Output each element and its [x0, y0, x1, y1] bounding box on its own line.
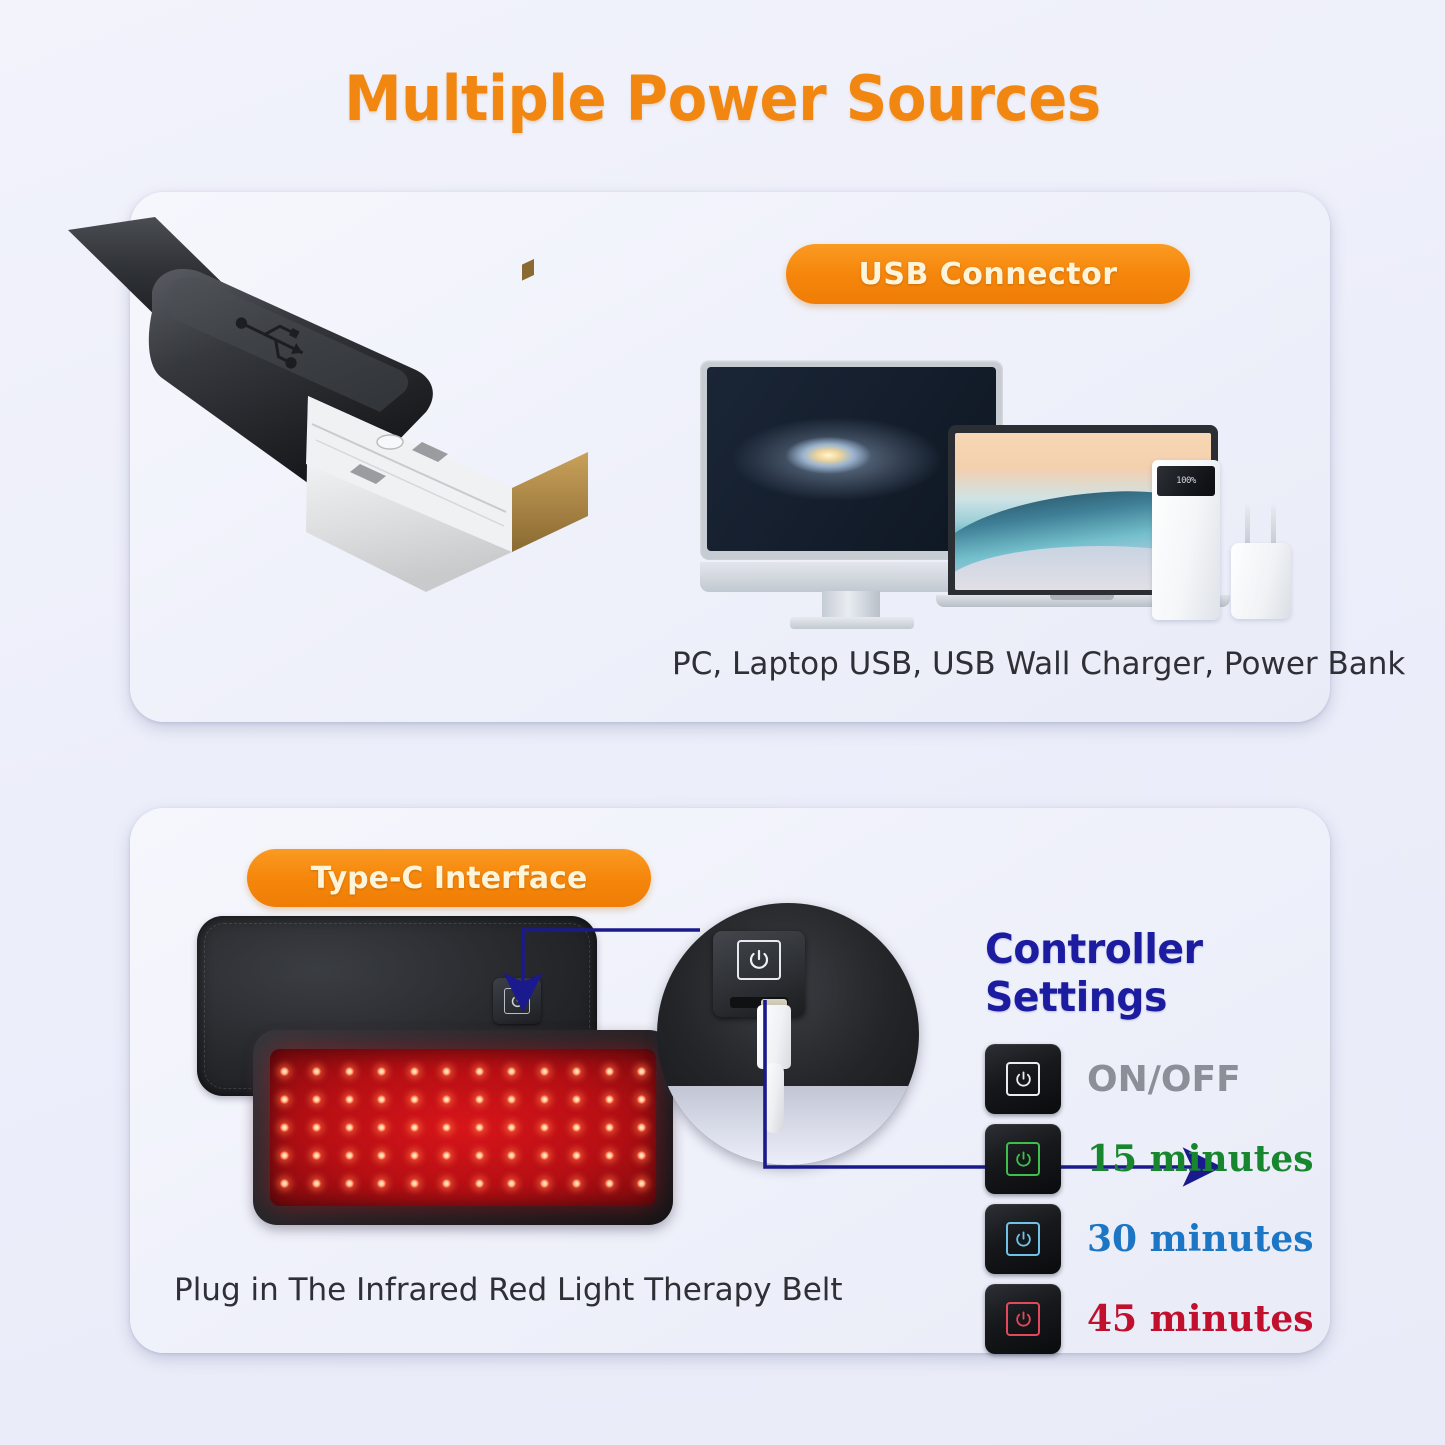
led-dot	[475, 1179, 484, 1188]
led-dot	[280, 1151, 289, 1160]
led-dot	[442, 1179, 451, 1188]
led-dot	[312, 1067, 321, 1076]
led-dot	[507, 1095, 516, 1104]
page-title: Multiple Power Sources	[51, 62, 1395, 135]
type-c-port-closeup	[657, 903, 919, 1165]
type-c-caption: Plug in The Infrared Red Light Therapy B…	[174, 1272, 843, 1308]
led-dot	[507, 1179, 516, 1188]
led-dot	[312, 1151, 321, 1160]
device-cluster: 100%	[690, 355, 1290, 630]
controller-setting-label: ON/OFF	[1087, 1059, 1241, 1100]
led-dot	[605, 1151, 614, 1160]
led-dot	[312, 1123, 321, 1132]
power-icon	[1006, 1222, 1040, 1256]
led-dot	[637, 1151, 646, 1160]
led-dot	[507, 1067, 516, 1076]
led-dot	[442, 1151, 451, 1160]
led-dot	[280, 1067, 289, 1076]
led-dot	[637, 1179, 646, 1188]
led-dot	[312, 1095, 321, 1104]
led-dot	[280, 1179, 289, 1188]
led-dot	[605, 1095, 614, 1104]
controller-setting-label: 15 minutes	[1087, 1138, 1314, 1180]
type-c-interface-badge: Type-C Interface	[247, 849, 651, 907]
led-dot	[572, 1179, 581, 1188]
power-icon	[1006, 1302, 1040, 1336]
led-dot	[540, 1179, 549, 1188]
led-dot	[572, 1123, 581, 1132]
controller-settings: Controller Settings ON/OFF15 minutes30 m…	[985, 925, 1330, 1359]
type-c-plug-body	[757, 1005, 791, 1069]
controller-setting-row: 15 minutes	[985, 1119, 1330, 1199]
power-bank: 100%	[1152, 460, 1220, 620]
led-row	[280, 1123, 646, 1132]
controller-setting-label: 30 minutes	[1087, 1218, 1314, 1260]
led-row	[280, 1179, 646, 1188]
led-dot	[442, 1123, 451, 1132]
led-dot	[540, 1151, 549, 1160]
controller-settings-title: Controller Settings	[985, 925, 1316, 1021]
power-icon	[504, 988, 530, 1014]
controller-setting-label: 45 minutes	[1087, 1298, 1314, 1340]
belt-led-panel-front	[253, 1030, 673, 1225]
led-dot	[377, 1179, 386, 1188]
power-bank-display: 100%	[1157, 466, 1215, 496]
led-dot	[572, 1095, 581, 1104]
closeup-floor	[657, 1086, 919, 1165]
led-dot	[410, 1067, 419, 1076]
controller-setting-row: 45 minutes	[985, 1279, 1330, 1359]
led-dot	[637, 1095, 646, 1104]
power-icon	[1006, 1062, 1040, 1096]
led-dot	[345, 1151, 354, 1160]
led-dot	[507, 1123, 516, 1132]
led-dot	[605, 1179, 614, 1188]
led-dot	[475, 1151, 484, 1160]
led-row	[280, 1151, 646, 1160]
led-dot	[312, 1179, 321, 1188]
power-icon	[737, 940, 781, 980]
led-dot	[475, 1095, 484, 1104]
led-dot	[345, 1123, 354, 1132]
led-dot	[377, 1095, 386, 1104]
led-dot	[345, 1067, 354, 1076]
led-dot	[605, 1123, 614, 1132]
led-dot	[507, 1151, 516, 1160]
controller-setting-row: 30 minutes	[985, 1199, 1330, 1279]
led-dot	[540, 1123, 549, 1132]
led-dot	[475, 1067, 484, 1076]
led-dot	[410, 1095, 419, 1104]
charger-prong-right	[1271, 505, 1276, 545]
led-dot	[637, 1067, 646, 1076]
led-row	[280, 1067, 646, 1076]
led-dot	[572, 1151, 581, 1160]
led-dot	[572, 1067, 581, 1076]
led-dot	[442, 1095, 451, 1104]
led-dot	[410, 1179, 419, 1188]
usb-a-connector-photo	[60, 180, 700, 620]
led-dot	[540, 1095, 549, 1104]
led-dot	[377, 1123, 386, 1132]
usb-connector-badge: USB Connector	[786, 244, 1190, 304]
led-dot	[475, 1123, 484, 1132]
controller-button-2[interactable]	[985, 1124, 1061, 1194]
power-icon	[1006, 1142, 1040, 1176]
led-dot	[605, 1067, 614, 1076]
led-dot	[345, 1179, 354, 1188]
usb-connector-caption: PC, Laptop USB, USB Wall Charger, Power …	[672, 646, 1405, 682]
belt-power-button[interactable]	[493, 978, 541, 1024]
therapy-belt-photo	[175, 900, 715, 1270]
charger-prong-left	[1245, 505, 1250, 545]
monitor-stand-foot	[790, 617, 914, 629]
type-c-cable-cord	[764, 1063, 784, 1133]
led-dot	[377, 1067, 386, 1076]
usb-wall-charger	[1231, 543, 1291, 619]
led-dot	[280, 1095, 289, 1104]
controller-setting-row: ON/OFF	[985, 1039, 1330, 1119]
closeup-controller-button[interactable]	[713, 931, 805, 1017]
controller-button-4[interactable]	[985, 1284, 1061, 1354]
controller-button-1[interactable]	[985, 1044, 1061, 1114]
led-dot	[540, 1067, 549, 1076]
laptop-notch	[1050, 595, 1114, 600]
controller-settings-rows: ON/OFF15 minutes30 minutes45 minutes	[985, 1039, 1330, 1359]
power-bank-display-value: 100%	[1176, 476, 1196, 486]
led-dot	[410, 1123, 419, 1132]
led-row	[280, 1095, 646, 1104]
led-dot	[442, 1067, 451, 1076]
led-dot	[345, 1095, 354, 1104]
led-dot	[410, 1151, 419, 1160]
led-dot	[637, 1123, 646, 1132]
led-dot	[280, 1123, 289, 1132]
led-grid	[270, 1049, 656, 1206]
controller-button-3[interactable]	[985, 1204, 1061, 1274]
led-dot	[377, 1151, 386, 1160]
